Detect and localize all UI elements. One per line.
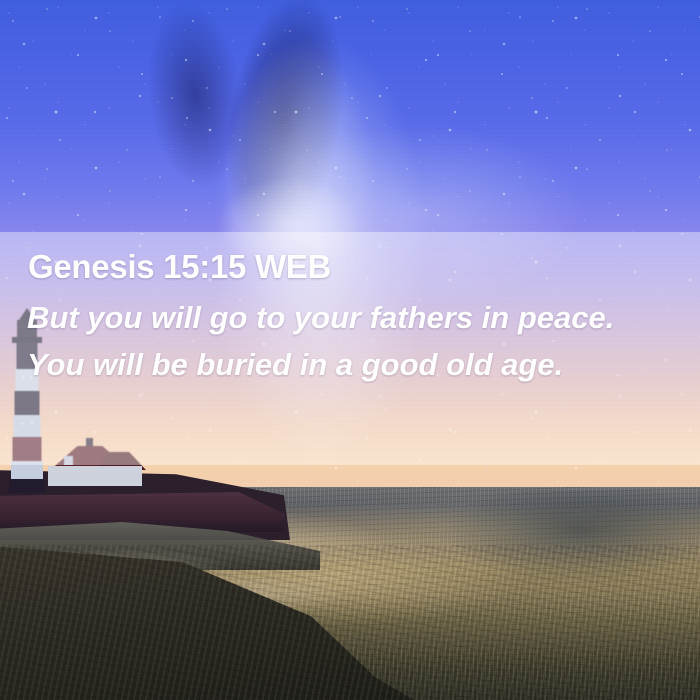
verse-text-block: Genesis 15:15 WEB But you will go to you… [0,232,700,465]
verse-image-canvas: Genesis 15:15 WEB But you will go to you… [0,0,700,700]
house-wall [48,466,142,486]
wet-rock-texture [0,545,700,700]
verse-body-text: But you will go to your fathers in peace… [27,294,675,388]
verse-reference: Genesis 15:15 WEB [28,248,331,286]
